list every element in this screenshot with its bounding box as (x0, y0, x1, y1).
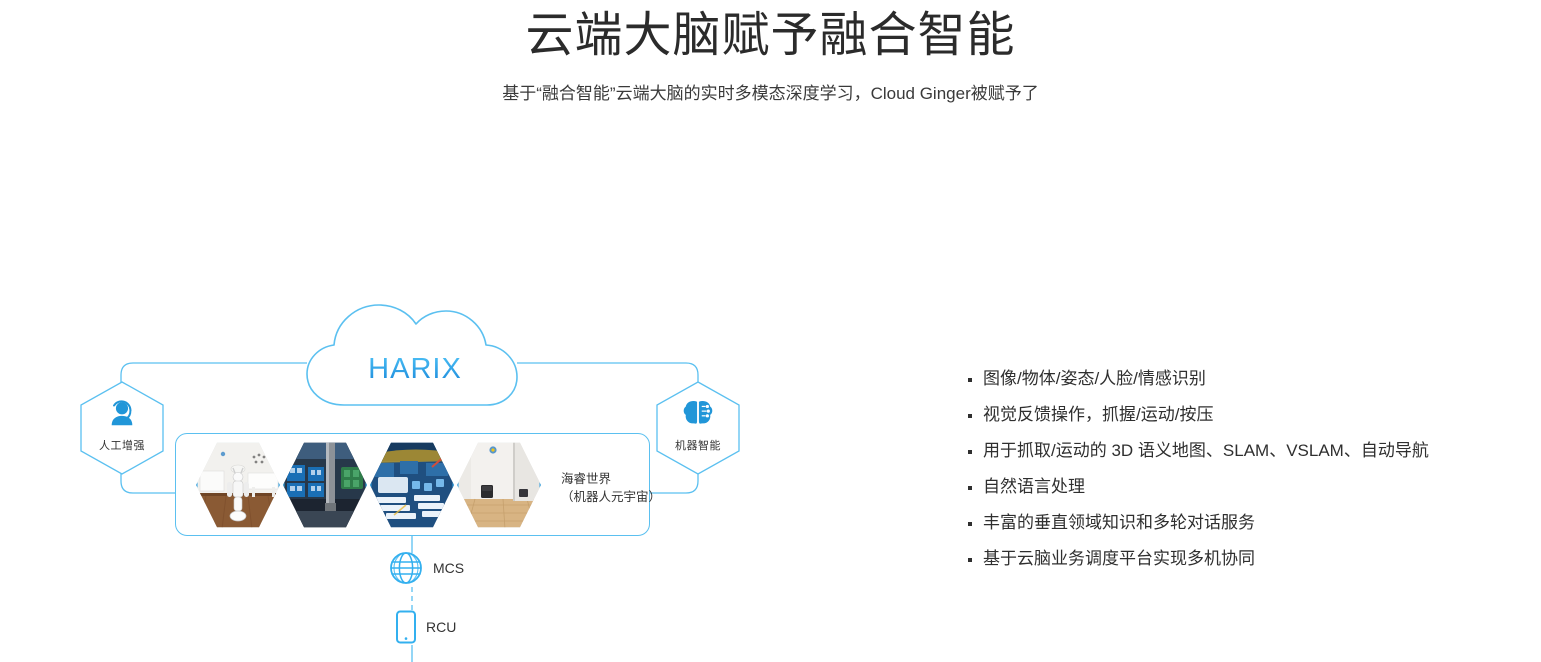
bullet-marker (968, 414, 972, 418)
feature-list: 图像/物体/姿态/人脸/情感识别 视觉反馈操作，抓握/运动/按压 用于抓取/运动… (968, 368, 1538, 584)
node-machine-intelligence[interactable]: 机器智能 (654, 380, 742, 476)
hexagon-frame (654, 380, 742, 476)
feature-text: 图像/物体/姿态/人脸/情感识别 (983, 368, 1206, 391)
node-rcu-label: RCU (426, 619, 456, 635)
bullet-marker (968, 522, 972, 526)
world-panel: 海睿世界 （机器人元宇宙） (175, 433, 650, 536)
scene-hexagon-outline (283, 441, 367, 529)
node-human-augmentation-label: 人工增强 (78, 437, 166, 453)
world-caption-line2: （机器人元宇宙） (561, 488, 661, 506)
node-rcu[interactable]: RCU (395, 610, 456, 644)
bullet-marker (968, 450, 972, 454)
scene-hexagon-outline (370, 441, 454, 529)
feature-item: 图像/物体/姿态/人脸/情感识别 (968, 368, 1538, 391)
feature-text: 自然语言处理 (983, 476, 1085, 499)
bullet-marker (968, 378, 972, 382)
scene-retail[interactable] (283, 441, 367, 529)
headset-agent-icon (78, 398, 166, 428)
feature-item: 用于抓取/运动的 3D 语义地图、SLAM、VSLAM、自动导航 (968, 440, 1538, 463)
mobile-phone-icon (395, 610, 417, 644)
scene-hexagon-outline (457, 441, 541, 529)
page-title: 云端大脑赋予融合智能 (0, 6, 1541, 66)
bullet-marker (968, 558, 972, 562)
scene-hexagon-group (196, 441, 541, 529)
feature-item: 基于云脑业务调度平台实现多机协同 (968, 548, 1538, 571)
scene-indoor-room[interactable] (457, 441, 541, 529)
feature-item: 丰富的垂直领域知识和多轮对话服务 (968, 512, 1538, 535)
feature-item: 自然语言处理 (968, 476, 1538, 499)
page-subtitle: 基于“融合智能”云端大脑的实时多模态深度学习，Cloud Ginger被赋予了 (0, 82, 1541, 106)
node-machine-intelligence-label: 机器智能 (654, 437, 742, 453)
scene-exhibition[interactable] (370, 441, 454, 529)
architecture-diagram: HARIX 人工增强 (0, 150, 830, 662)
bullet-marker (968, 486, 972, 490)
feature-text: 基于云脑业务调度平台实现多机协同 (983, 548, 1255, 571)
cloud-icon (307, 305, 517, 405)
brain-circuit-icon (654, 398, 742, 428)
feature-item: 视觉反馈操作，抓握/运动/按压 (968, 404, 1538, 427)
node-mcs[interactable]: MCS (388, 550, 464, 586)
world-caption-line1: 海睿世界 (561, 470, 661, 488)
node-mcs-label: MCS (433, 560, 464, 576)
slide-page: 云端大脑赋予融合智能 基于“融合智能”云端大脑的实时多模态深度学习，Cloud … (0, 0, 1541, 662)
globe-icon (388, 550, 424, 586)
feature-text: 丰富的垂直领域知识和多轮对话服务 (983, 512, 1255, 535)
hexagon-frame (78, 380, 166, 476)
feature-text: 视觉反馈操作，抓握/运动/按压 (983, 404, 1213, 427)
scene-restaurant[interactable] (196, 441, 280, 529)
node-human-augmentation[interactable]: 人工增强 (78, 380, 166, 476)
world-panel-caption: 海睿世界 （机器人元宇宙） (561, 470, 661, 506)
scene-hexagon-outline (196, 441, 280, 529)
feature-text: 用于抓取/运动的 3D 语义地图、SLAM、VSLAM、自动导航 (983, 440, 1429, 463)
